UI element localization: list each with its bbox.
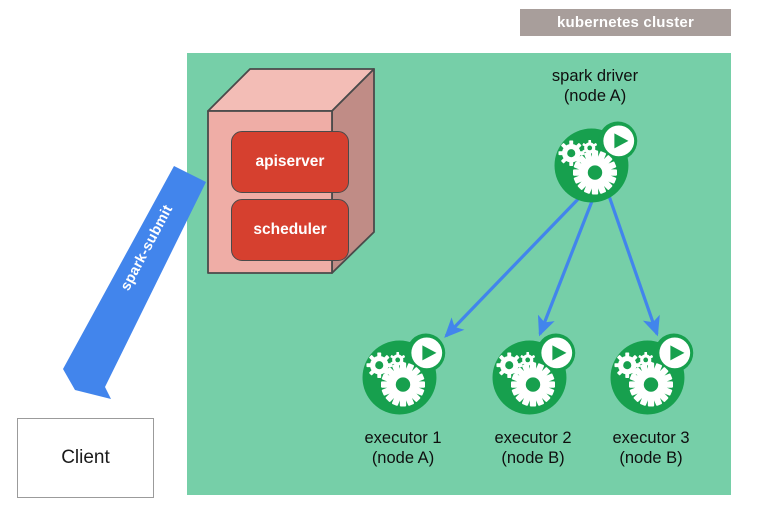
spark-driver-label: spark driver (node A)	[515, 66, 675, 106]
apiserver-label: apiserver	[256, 153, 325, 171]
gears-play-icon	[493, 334, 576, 415]
executor-3-label-line2: (node B)	[571, 448, 731, 468]
control-plane-cube: apiserver scheduler	[204, 62, 376, 277]
play-icon	[411, 337, 442, 368]
spark-submit-label: spark-submit	[108, 186, 187, 310]
client-label: Client	[61, 447, 110, 469]
diagram-canvas: kubernetes cluster Client spark-submit a…	[0, 0, 761, 516]
spark-driver-label-line1: spark driver	[552, 67, 638, 85]
client-box: Client	[17, 418, 154, 498]
gears-play-icon	[363, 334, 446, 415]
gears-play-icon	[555, 122, 638, 203]
gears-play-icon	[611, 334, 694, 415]
apiserver-component: apiserver	[231, 131, 349, 193]
spark-driver-label-line2: (node A)	[515, 86, 675, 106]
executor-2-label-line1: executor 2	[494, 429, 571, 447]
executor-1-label-line1: executor 1	[364, 429, 441, 447]
play-icon	[541, 337, 572, 368]
play-icon	[603, 125, 634, 156]
kubernetes-cluster-badge: kubernetes cluster	[520, 9, 731, 36]
scheduler-component: scheduler	[231, 199, 349, 261]
spark-driver-node	[551, 118, 639, 206]
executor-3-label-line1: executor 3	[612, 429, 689, 447]
play-icon	[659, 337, 690, 368]
executor-2-node	[489, 330, 577, 418]
executor-3-node	[607, 330, 695, 418]
scheduler-label: scheduler	[253, 221, 326, 239]
executor-3-label: executor 3 (node B)	[571, 428, 731, 468]
executor-1-node	[359, 330, 447, 418]
